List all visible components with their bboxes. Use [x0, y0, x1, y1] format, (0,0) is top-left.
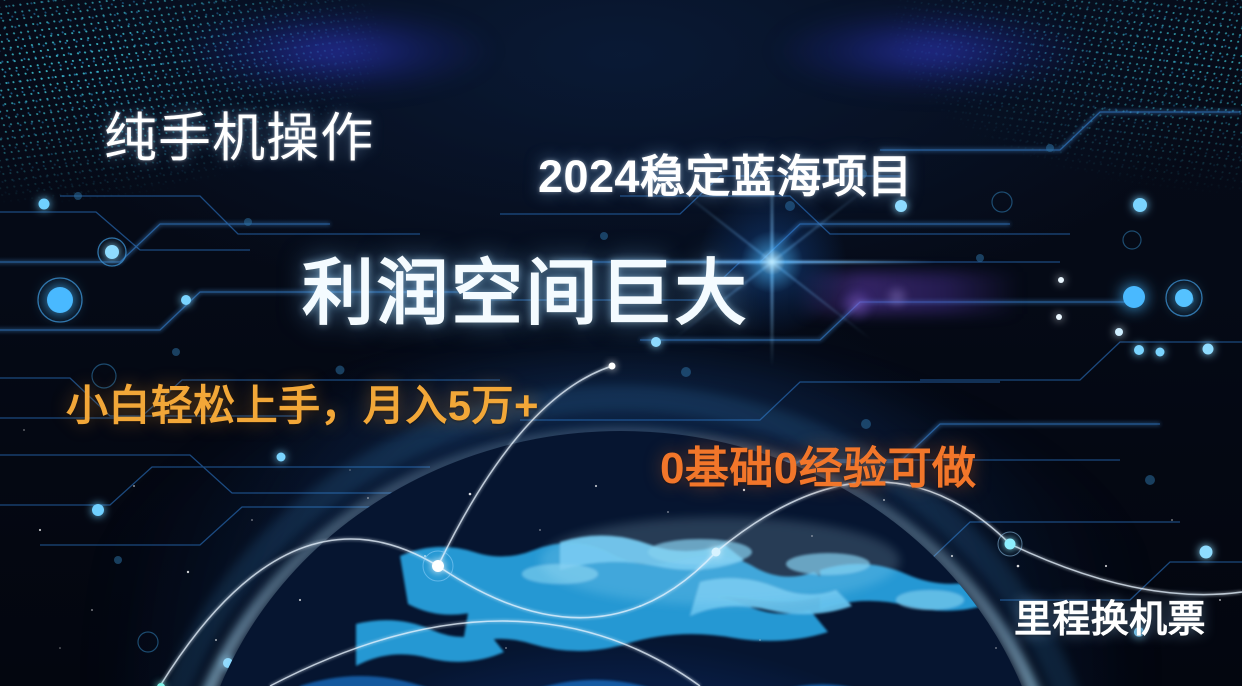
footer-tag-miles-ticket: 里程换机票: [1014, 588, 1206, 643]
headline-phone-operation: 纯手机操作: [104, 96, 374, 172]
subline-zero-experience: 0基础0经验可做: [660, 432, 976, 496]
headline-year-project: 2024稳定蓝海项目: [538, 140, 913, 205]
promo-poster: 纯手机操作 2024稳定蓝海项目 利润空间巨大 小白轻松上手，月入5万+ 0基础…: [0, 0, 1242, 686]
subline-beginner-income: 小白轻松上手，月入5万+: [66, 372, 539, 433]
headline-profit-space: 利润空间巨大: [302, 234, 749, 339]
